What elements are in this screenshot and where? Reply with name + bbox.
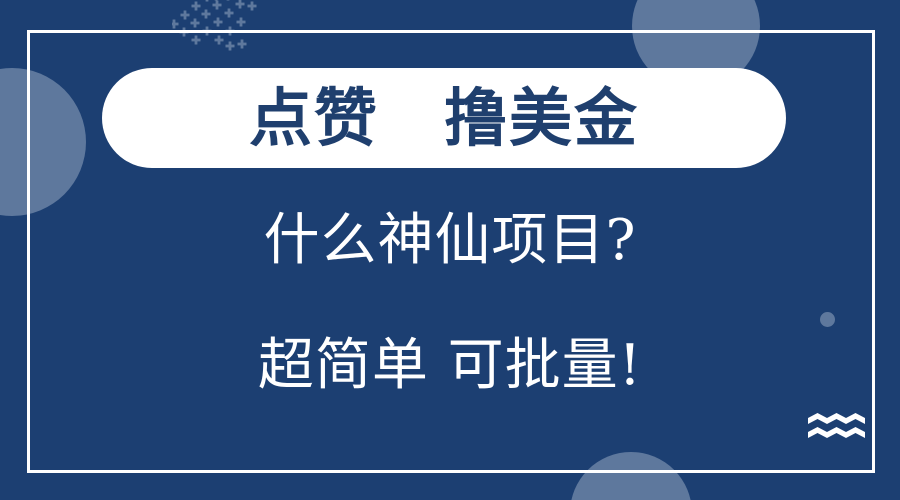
poster-content: 点赞 撸美金 什么神仙项目? 超简单 可批量!	[0, 0, 900, 500]
promo-poster: 点赞 撸美金 什么神仙项目? 超简单 可批量!	[0, 0, 900, 500]
headline-text: 点赞 撸美金	[249, 87, 639, 150]
subheading-line-1: 什么神仙项目?	[0, 213, 900, 269]
headline-pill: 点赞 撸美金	[102, 68, 786, 168]
subheading-line-2: 超简单 可批量!	[0, 338, 900, 394]
